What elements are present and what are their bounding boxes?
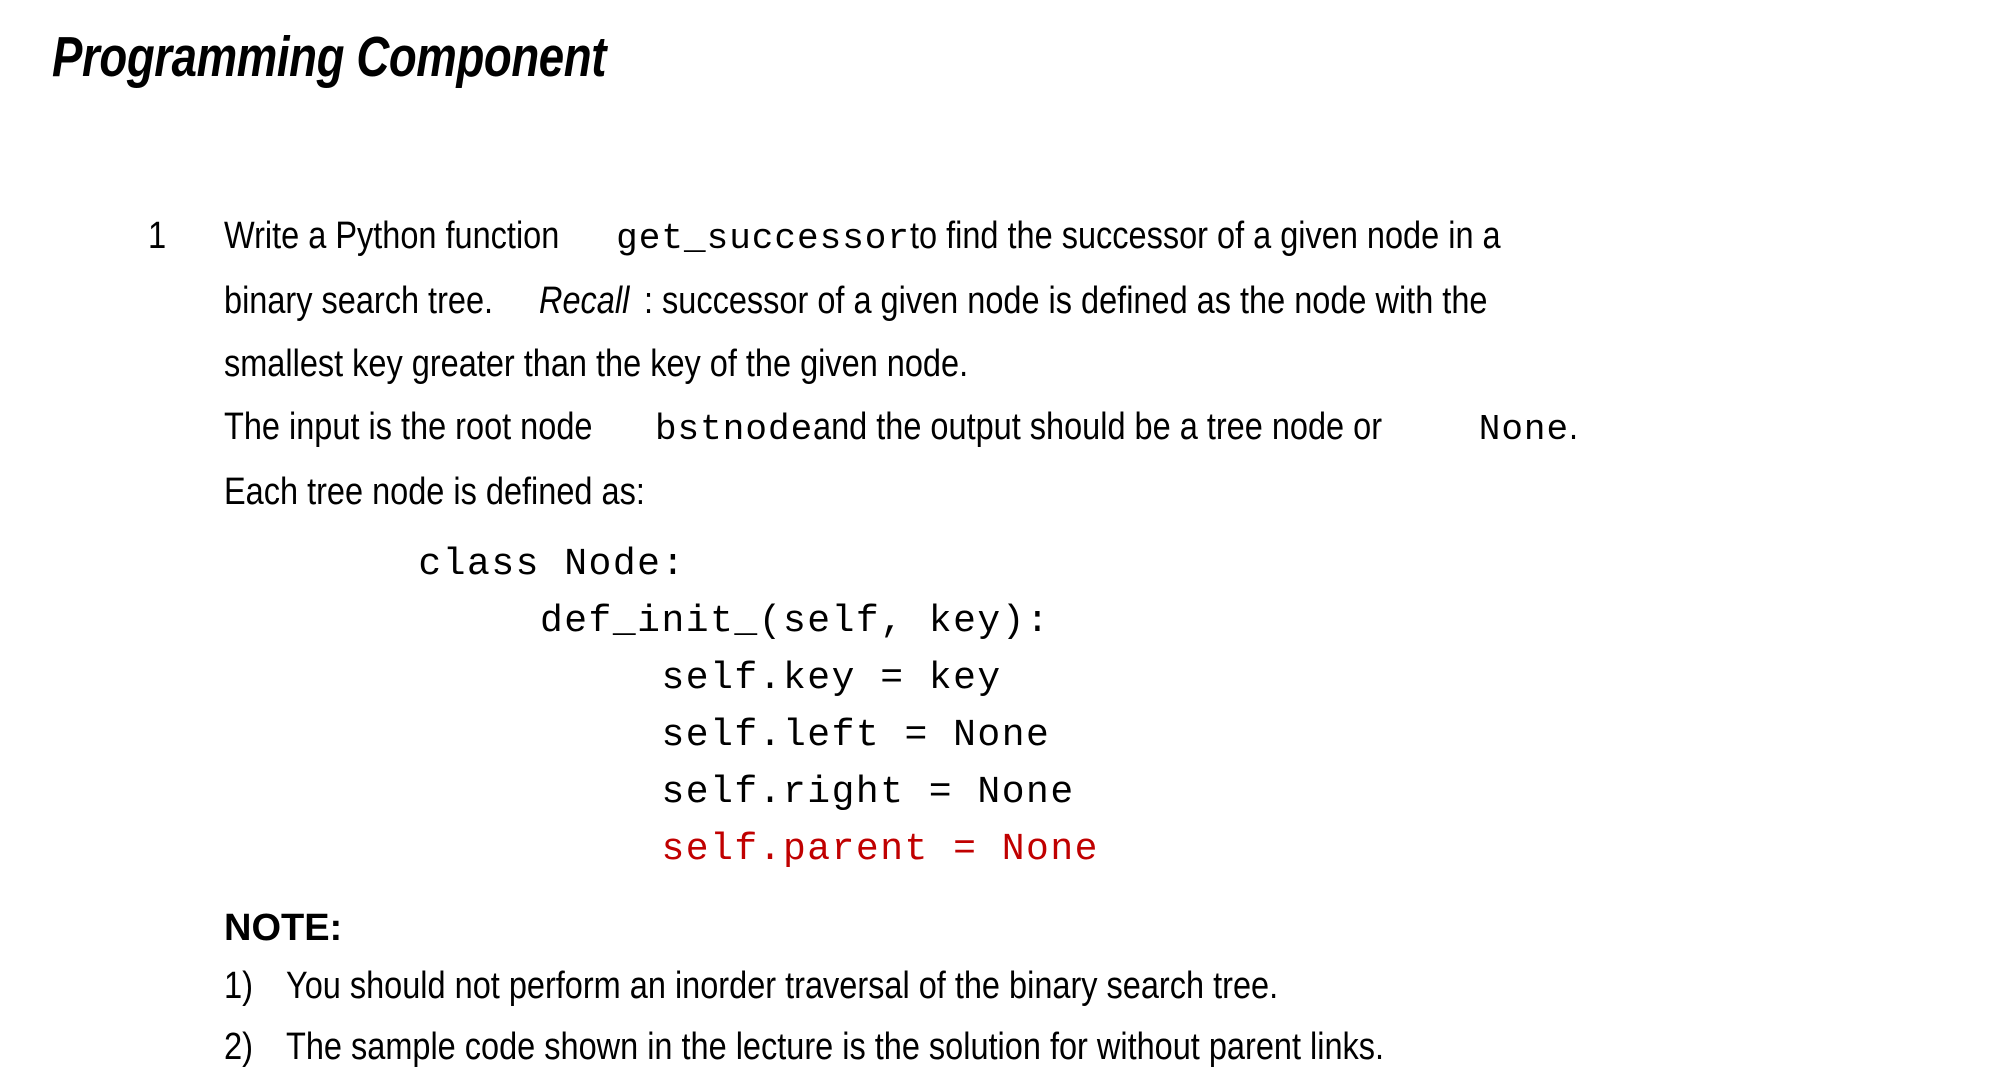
question-row: 1 Write a Python function get_successor …	[148, 205, 1988, 1078]
note-item-text: You should not perform an inorder traver…	[286, 956, 1988, 1017]
note-item: 2)The sample code shown in the lecture i…	[224, 1017, 1988, 1078]
paragraph-text: : successor of a given node is defined a…	[644, 270, 1487, 333]
code-line: class Node:	[224, 536, 1988, 593]
paragraph-text: binary search tree.	[224, 270, 493, 333]
inline-code: bstnode	[655, 398, 813, 461]
note-list: 1)You should not perform an inorder trav…	[224, 956, 1988, 1078]
code-line: self.left = None	[224, 707, 1988, 764]
paragraph-line: Write a Python function get_successor to…	[224, 205, 1988, 270]
note-item-label: The sample code shown in the lecture is …	[286, 1017, 1384, 1078]
code-line: def_init_(self, key):	[224, 593, 1988, 650]
code-line: self.parent = None	[224, 821, 1988, 878]
paragraph-line: Each tree node is defined as:	[224, 461, 1988, 524]
inline-code: get_successor	[616, 207, 910, 270]
code-line: self.key = key	[224, 650, 1988, 707]
emphasis-text: Recall	[539, 270, 629, 333]
question-block: 1 Write a Python function get_successor …	[148, 205, 1988, 1078]
question-number: 1	[148, 205, 213, 268]
paragraph-line: smallest key greater than the key of the…	[224, 333, 1988, 396]
note-item-marker: 1)	[224, 956, 277, 1017]
code-line: self.right = None	[224, 764, 1988, 821]
code-block: class Node: def_init_(self, key): self.k…	[224, 536, 1988, 878]
paragraph-text: smallest key greater than the key of the…	[224, 333, 968, 396]
note-block: NOTE: 1)You should not perform an inorde…	[224, 900, 1988, 1078]
paragraph-line: The input is the root node bstnode and t…	[224, 396, 1988, 461]
paragraph-text: to find the successor of a given node in…	[910, 205, 1501, 268]
page-title: Programming Component	[52, 22, 606, 92]
paragraph-text: and the output should be a tree node or	[813, 396, 1382, 459]
paragraph-text: Each tree node is defined as:	[224, 461, 645, 524]
slide-canvas: Programming Component 1 Write a Python f…	[0, 0, 2002, 1085]
paragraph-text: The input is the root node	[224, 396, 592, 459]
note-item: 1)You should not perform an inorder trav…	[224, 956, 1988, 1017]
note-item-label: You should not perform an inorder traver…	[286, 956, 1278, 1017]
inline-code: None	[1479, 398, 1569, 461]
paragraph-text: .	[1569, 396, 1578, 459]
paragraph-text: Write a Python function	[224, 205, 559, 268]
paragraph-line: binary search tree. Recall: successor of…	[224, 270, 1988, 333]
question-body: Write a Python function get_successor to…	[224, 205, 1988, 1078]
note-item-marker: 2)	[224, 1017, 277, 1078]
note-item-text: The sample code shown in the lecture is …	[286, 1017, 1988, 1078]
note-heading: NOTE:	[224, 900, 1988, 956]
question-paragraph: Write a Python function get_successor to…	[224, 205, 1988, 524]
